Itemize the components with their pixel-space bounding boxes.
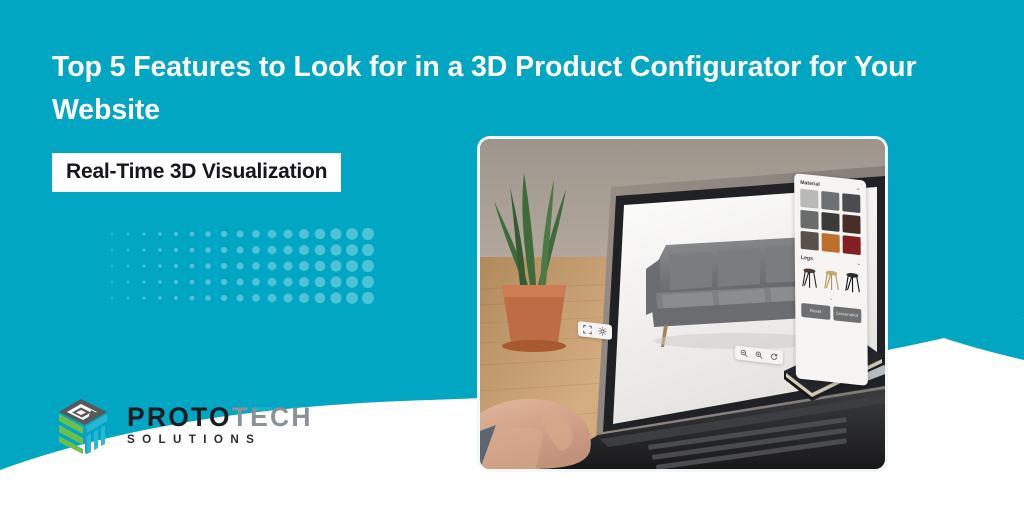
material-label: Material: [800, 180, 820, 188]
laptop-configurator-photo: Material ⌄ Legs ⌄: [480, 139, 885, 469]
material-swatch[interactable]: [821, 233, 840, 253]
material-swatch[interactable]: [821, 191, 840, 211]
material-swatch[interactable]: [842, 193, 861, 213]
material-swatch[interactable]: [842, 235, 861, 255]
page-title: Top 5 Features to Look for in a 3D Produ…: [52, 46, 982, 133]
leg-option-black[interactable]: [844, 268, 861, 294]
cube-logo-icon: [50, 392, 116, 458]
logo-wordmark: PROTOTECH SOLUTIONS: [127, 404, 313, 446]
legs-label: Legs: [801, 255, 813, 262]
screenshot-button[interactable]: Screenshot: [833, 306, 862, 323]
logo-subtitle: SOLUTIONS: [127, 434, 313, 446]
zoom-out-icon[interactable]: [740, 349, 748, 358]
dot-grid-decoration: [108, 228, 376, 308]
gear-icon[interactable]: [598, 326, 607, 336]
zoom-in-icon[interactable]: [755, 351, 763, 360]
material-swatch[interactable]: [800, 189, 819, 209]
material-swatch[interactable]: [801, 230, 820, 250]
logo-word-primary: PROTO: [127, 404, 232, 431]
logo-word-secondary: TECH: [232, 404, 313, 431]
leg-option-oak[interactable]: [822, 266, 839, 292]
material-swatch-grid[interactable]: [800, 189, 861, 255]
material-swatch[interactable]: [821, 212, 840, 232]
leg-option-walnut[interactable]: [801, 264, 818, 290]
chevron-down-icon[interactable]: ⌄: [857, 261, 861, 266]
promo-banner: Top 5 Features to Look for in a 3D Produ…: [0, 0, 1024, 512]
configurator-actions[interactable]: Reset Screenshot: [801, 303, 861, 323]
fullscreen-icon[interactable]: [583, 325, 592, 335]
feature-badge: Real-Time 3D Visualization: [52, 153, 341, 192]
product-configurator-panel[interactable]: Material ⌄ Legs ⌄: [794, 173, 868, 386]
rotate-icon[interactable]: [770, 352, 778, 361]
material-swatch[interactable]: [842, 214, 861, 234]
material-swatch[interactable]: [800, 210, 819, 230]
chevron-down-icon[interactable]: ⌄: [856, 186, 860, 191]
legs-option-list[interactable]: [801, 264, 861, 294]
logo-teal-accent-bar: [257, 407, 272, 410]
brand-logo[interactable]: PROTOTECH SOLUTIONS: [50, 392, 313, 458]
reset-button[interactable]: Reset: [801, 303, 830, 320]
